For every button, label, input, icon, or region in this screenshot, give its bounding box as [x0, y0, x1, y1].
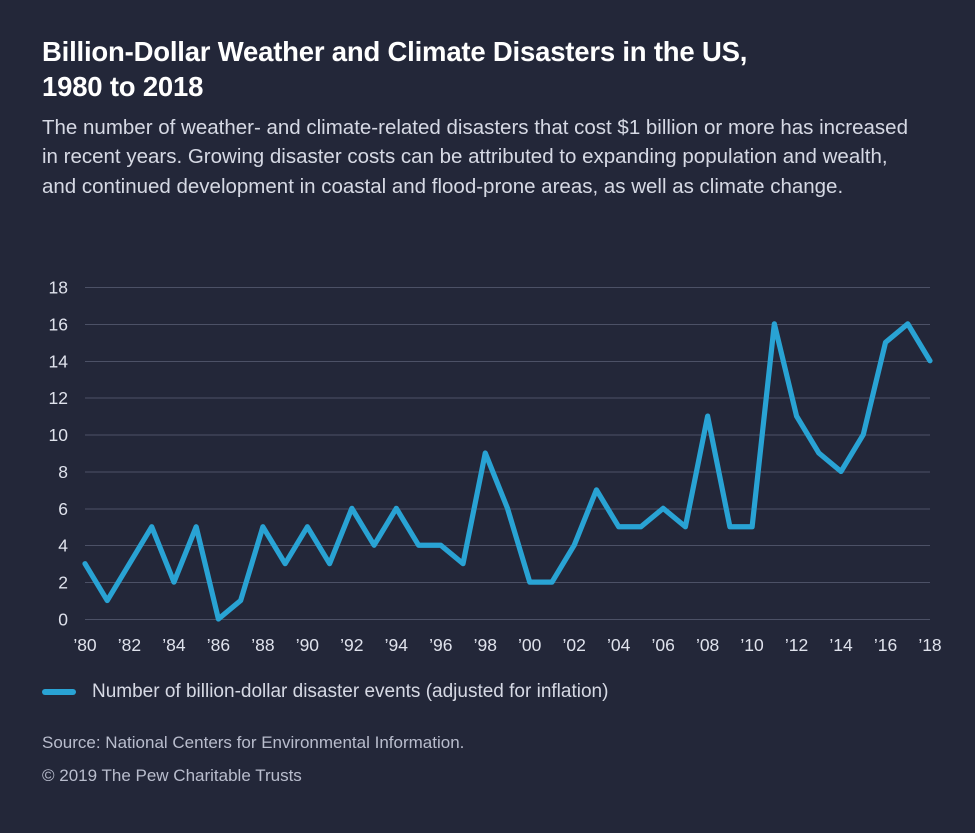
x-axis-tick-label: ’84 — [162, 635, 186, 655]
legend-line-swatch — [42, 689, 76, 695]
footer: Source: National Centers for Environment… — [42, 733, 922, 786]
chart-legend: Number of billion-dollar disaster events… — [42, 682, 608, 701]
copyright-note: © 2019 The Pew Charitable Trusts — [42, 766, 922, 786]
infographic-page: Billion-Dollar Weather and Climate Disas… — [0, 0, 975, 833]
x-axis-tick-label: ’08 — [696, 635, 719, 655]
line-chart: 024681012141618’80’82’84’86’88’90’92’94’… — [0, 262, 975, 672]
x-axis-tick-label: ’18 — [918, 635, 941, 655]
x-axis-tick-label: ’14 — [829, 635, 853, 655]
header: Billion-Dollar Weather and Climate Disas… — [0, 0, 975, 201]
x-axis-tick-label: ’06 — [651, 635, 674, 655]
x-axis-tick-label: ’02 — [563, 635, 586, 655]
x-axis-tick-label: ’86 — [207, 635, 230, 655]
x-axis-tick-label: ’94 — [385, 635, 409, 655]
x-axis-tick-label: ’12 — [785, 635, 808, 655]
x-axis-tick-label: ’04 — [607, 635, 631, 655]
x-axis-tick-label: ’96 — [429, 635, 452, 655]
y-axis-tick-label: 2 — [58, 573, 68, 593]
x-axis-tick-label: ’82 — [118, 635, 141, 655]
x-axis-tick-label: ’00 — [518, 635, 542, 655]
x-axis-tick-label: ’88 — [251, 635, 274, 655]
x-axis-tick-label: ’10 — [740, 635, 764, 655]
x-axis-tick-label: ’16 — [874, 635, 897, 655]
y-axis-tick-label: 0 — [58, 610, 68, 630]
x-axis-tick-label: ’98 — [474, 635, 497, 655]
x-axis-tick-label: ’92 — [340, 635, 363, 655]
y-axis-tick-label: 12 — [49, 388, 68, 408]
legend-label: Number of billion-dollar disaster events… — [92, 682, 608, 701]
y-axis-tick-label: 14 — [49, 351, 69, 371]
y-axis-tick-label: 6 — [58, 499, 68, 519]
page-title: Billion-Dollar Weather and Climate Disas… — [42, 34, 872, 104]
source-note: Source: National Centers for Environment… — [42, 733, 922, 753]
y-axis-tick-label: 8 — [58, 462, 68, 482]
page-subtitle: The number of weather- and climate-relat… — [42, 113, 927, 200]
y-axis-tick-label: 16 — [49, 314, 68, 334]
x-axis-tick-label: ’80 — [73, 635, 97, 655]
x-axis-tick-label: ’90 — [296, 635, 320, 655]
y-axis-tick-label: 18 — [49, 278, 68, 298]
y-axis-tick-label: 4 — [58, 536, 68, 556]
y-axis-tick-label: 10 — [49, 425, 69, 445]
chart-container: 024681012141618’80’82’84’86’88’90’92’94’… — [0, 262, 975, 672]
